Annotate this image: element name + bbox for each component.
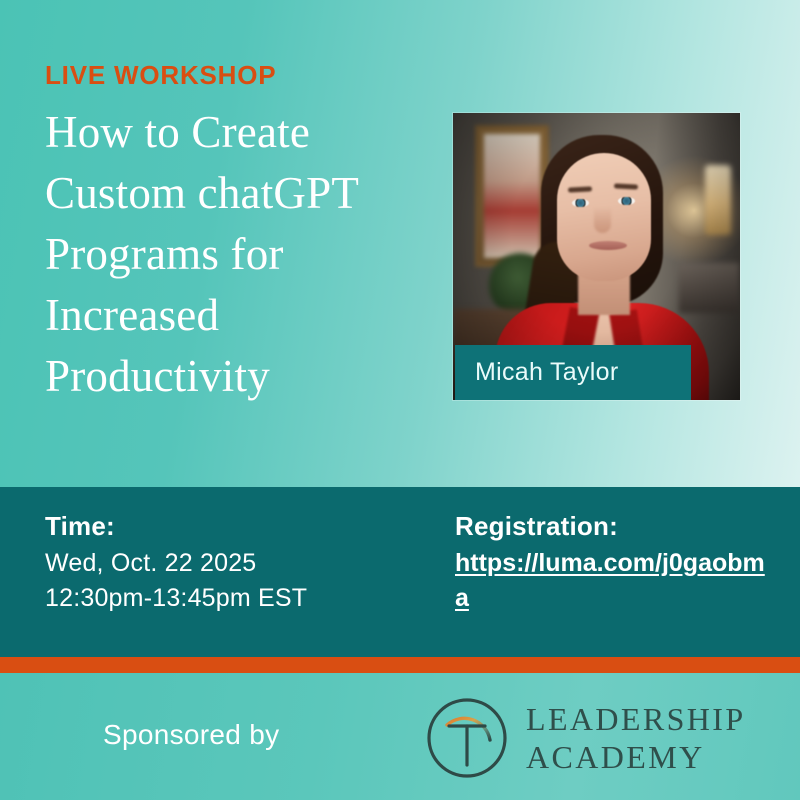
footer-section: Sponsored by xyxy=(0,673,800,800)
eyebrow-label: LIVE WORKSHOP xyxy=(45,60,276,91)
page-title: How to Create Custom chatGPT Programs fo… xyxy=(45,102,435,407)
logo-circle-t-icon xyxy=(424,695,510,781)
speaker-name: Micah Taylor xyxy=(455,358,618,387)
registration-link[interactable]: https://luma.com/j0gaobma xyxy=(455,549,765,612)
time-label: Time: xyxy=(45,511,307,542)
orange-divider xyxy=(0,657,800,673)
sponsored-by-label: Sponsored by xyxy=(103,719,279,751)
time-date: Wed, Oct. 22 2025 xyxy=(45,546,307,581)
leadership-academy-logo: LEADERSHIP ACADEMY xyxy=(424,695,746,781)
time-block: Time: Wed, Oct. 22 2025 12:30pm-13:45pm … xyxy=(45,511,307,616)
details-band: Time: Wed, Oct. 22 2025 12:30pm-13:45pm … xyxy=(0,487,800,657)
speaker-name-banner: Micah Taylor xyxy=(455,345,691,400)
workshop-promo-poster: LIVE WORKSHOP How to Create Custom chatG… xyxy=(0,0,800,800)
logo-line-1: LEADERSHIP xyxy=(526,700,746,738)
registration-label: Registration: xyxy=(455,511,765,542)
hero-section: LIVE WORKSHOP How to Create Custom chatG… xyxy=(0,0,800,487)
time-hours: 12:30pm-13:45pm EST xyxy=(45,581,307,616)
logo-wordmark: LEADERSHIP ACADEMY xyxy=(526,700,746,776)
logo-line-2: ACADEMY xyxy=(526,738,746,776)
registration-block: Registration: https://luma.com/j0gaobma xyxy=(455,511,765,616)
